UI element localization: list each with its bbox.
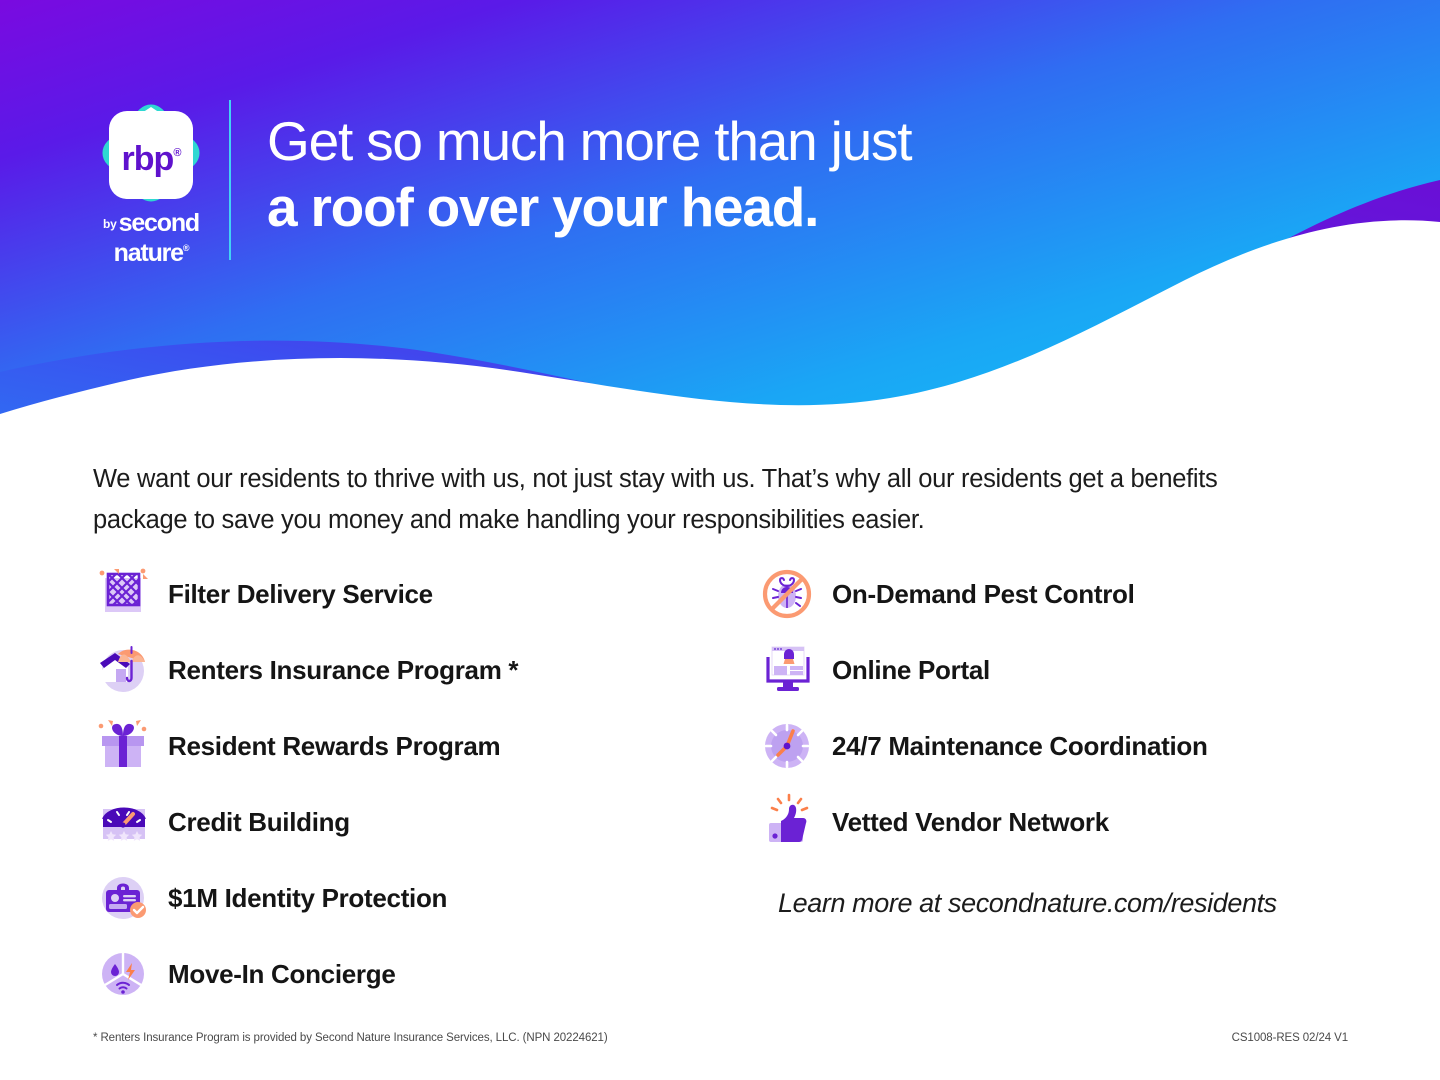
benefit-label: Renters Insurance Program * xyxy=(168,655,518,686)
benefit-item[interactable]: Move-In Concierge xyxy=(93,936,733,1012)
benefit-label: Credit Building xyxy=(168,807,350,838)
benefit-item[interactable]: Credit Building xyxy=(93,784,733,860)
benefit-label: Vetted Vendor Network xyxy=(832,807,1109,838)
umbrella-house-icon xyxy=(93,639,155,701)
headline-line-2: a roof over your head. xyxy=(267,174,1167,240)
benefit-item[interactable]: On-Demand Pest Control xyxy=(757,556,1357,632)
benefit-item[interactable]: Online Portal xyxy=(757,632,1357,708)
logo-byline: bysecond nature® xyxy=(86,212,216,265)
benefit-label: On-Demand Pest Control xyxy=(832,579,1135,610)
benefit-item[interactable]: Resident Rewards Program xyxy=(93,708,733,784)
rbp-logo: rbp® bysecond nature® xyxy=(86,98,216,258)
logo-brand-registered-mark: ® xyxy=(183,243,188,253)
monitor-icon xyxy=(757,639,819,701)
benefit-label: $1M Identity Protection xyxy=(168,883,447,914)
rbp-logo-mark: rbp® xyxy=(92,98,210,208)
benefit-label: Online Portal xyxy=(832,655,990,686)
benefits-column-left: Filter Delivery Service xyxy=(93,556,733,1012)
benefit-label: Resident Rewards Program xyxy=(168,731,500,762)
headline: Get so much more than just a roof over y… xyxy=(267,108,1167,240)
logo-brand-line2: nature xyxy=(114,239,183,267)
flyer-page: rbp® bysecond nature® Get so much more t… xyxy=(0,0,1440,1080)
benefit-item[interactable]: Renters Insurance Program * xyxy=(93,632,733,708)
id-briefcase-icon xyxy=(93,867,155,929)
header-banner: rbp® bysecond nature® Get so much more t… xyxy=(0,0,1440,440)
benefit-item[interactable]: $1M Identity Protection xyxy=(93,860,733,936)
benefit-label: Filter Delivery Service xyxy=(168,579,433,610)
header-vertical-divider xyxy=(229,100,231,260)
logo-wordmark-text: rbp xyxy=(122,140,174,178)
benefit-item[interactable]: Filter Delivery Service xyxy=(93,556,733,632)
no-bug-icon xyxy=(757,563,819,625)
clock-icon xyxy=(757,715,819,777)
thumbs-up-icon xyxy=(757,791,819,853)
logo-brand-line2-wrap: nature® xyxy=(86,236,216,265)
document-code: CS1008-RES 02/24 V1 xyxy=(1232,1032,1348,1044)
utilities-icon xyxy=(93,943,155,1005)
logo-by-label: by xyxy=(103,217,117,231)
benefit-label: 24/7 Maintenance Coordination xyxy=(832,731,1208,762)
benefit-item[interactable]: 24/7 Maintenance Coordination xyxy=(757,708,1357,784)
credit-gauge-icon xyxy=(93,791,155,853)
learn-more-text[interactable]: Learn more at secondnature.com/residents xyxy=(778,888,1357,919)
filter-icon xyxy=(93,563,155,625)
logo-wordmark: rbp® xyxy=(92,135,210,177)
benefit-label: Move-In Concierge xyxy=(168,959,396,990)
intro-paragraph: We want our residents to thrive with us,… xyxy=(93,459,1318,541)
headline-line-1: Get so much more than just xyxy=(267,108,1167,174)
benefits-column-right: On-Demand Pest Control xyxy=(757,556,1357,919)
benefit-item[interactable]: Vetted Vendor Network xyxy=(757,784,1357,860)
footnote-text: * Renters Insurance Program is provided … xyxy=(93,1032,608,1044)
logo-registered-mark: ® xyxy=(173,147,180,159)
logo-brand-line1: second xyxy=(119,212,199,235)
gift-box-icon xyxy=(93,715,155,777)
